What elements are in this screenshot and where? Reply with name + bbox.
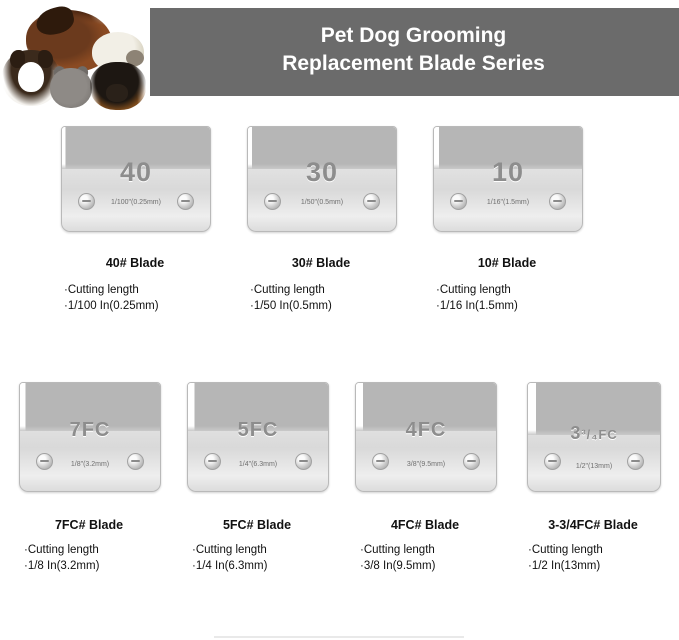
collie-ear-right-icon: [38, 50, 53, 68]
blade-card[interactable]: 5FC1/4"(6.3mm)5FC# Blade·Cutting length·…: [174, 382, 340, 492]
blade-screw-left: [372, 453, 389, 470]
blade-screw-left: [204, 453, 221, 470]
blade-card[interactable]: 101/16"(1.5mm)10# Blade·Cutting length·1…: [414, 126, 600, 232]
blade-number-engraving: 5FC: [188, 419, 328, 442]
blade-number-engraving: 40: [62, 157, 210, 188]
blade-image: 101/16"(1.5mm): [433, 126, 581, 232]
blade-caption: 5FC# Blade: [174, 518, 340, 532]
blade-spec-list: ·Cutting length·1/50 In(0.5mm): [250, 282, 332, 314]
blade-body: 401/100"(0.25mm): [61, 126, 211, 232]
page-header: Pet Dog Grooming Replacement Blade Serie…: [0, 0, 679, 110]
blade-card[interactable]: 3³/₄FC1/2"(13mm)3-3/4FC# Blade·Cutting l…: [510, 382, 676, 492]
blade-screw-right: [127, 453, 144, 470]
blade-spec-item: ·3/8 In(9.5mm): [360, 558, 435, 574]
blade-card[interactable]: 301/50"(0.5mm)30# Blade·Cutting length·1…: [228, 126, 414, 232]
blade-spec-item: ·Cutting length: [528, 542, 603, 558]
blade-spec-list: ·Cutting length·1/2 In(13mm): [528, 542, 603, 574]
blade-row-top: 401/100"(0.25mm)40# Blade·Cutting length…: [0, 126, 679, 352]
blade-screw-left: [264, 193, 281, 210]
page-title: Pet Dog Grooming Replacement Blade Serie…: [148, 22, 679, 78]
blade-image: 301/50"(0.5mm): [247, 126, 395, 232]
blade-card[interactable]: 401/100"(0.25mm)40# Blade·Cutting length…: [42, 126, 228, 232]
blade-screw-right: [295, 453, 312, 470]
blade-caption: 40# Blade: [42, 256, 228, 270]
blade-number-engraving: 10: [434, 157, 582, 188]
blade-spec-item: ·1/2 In(13mm): [528, 558, 603, 574]
blade-caption: 7FC# Blade: [6, 518, 172, 532]
blade-screw-left: [450, 193, 467, 210]
blade-spec-item: ·Cutting length: [192, 542, 267, 558]
blade-screw-right: [363, 193, 380, 210]
blade-screw-right: [549, 193, 566, 210]
blade-spec-list: ·Cutting length·1/8 In(3.2mm): [24, 542, 99, 574]
blade-spec-item: ·Cutting length: [24, 542, 99, 558]
footer-divider: [214, 636, 464, 638]
blade-screw-left: [36, 453, 53, 470]
blade-body: 101/16"(1.5mm): [433, 126, 583, 232]
blade-body: 7FC1/8"(3.2mm): [19, 382, 161, 492]
blade-spec-item: ·1/4 In(6.3mm): [192, 558, 267, 574]
blade-caption: 10# Blade: [414, 256, 600, 270]
blade-spec-item: ·1/16 In(1.5mm): [436, 298, 518, 314]
blade-number-superscript: ³/₄FC: [581, 427, 617, 442]
blade-spec-item: ·1/50 In(0.5mm): [250, 298, 332, 314]
blade-number-engraving: 4FC: [356, 419, 496, 442]
blade-screw-right: [627, 453, 644, 470]
blade-card[interactable]: 4FC3/8"(9.5mm)4FC# Blade·Cutting length·…: [342, 382, 508, 492]
blade-spec-item: ·Cutting length: [436, 282, 518, 298]
rottweiler-snout-icon: [106, 84, 128, 102]
blade-screw-right: [463, 453, 480, 470]
blade-spec-item: ·1/8 In(3.2mm): [24, 558, 99, 574]
blade-spec-list: ·Cutting length·1/16 In(1.5mm): [436, 282, 518, 314]
blade-body: 3³/₄FC1/2"(13mm): [527, 382, 661, 492]
blade-card[interactable]: 7FC1/8"(3.2mm)7FC# Blade·Cutting length·…: [6, 382, 172, 492]
blade-screw-right: [177, 193, 194, 210]
blade-image: 4FC3/8"(9.5mm): [355, 382, 495, 492]
blade-image: 3³/₄FC1/2"(13mm): [527, 382, 659, 492]
blade-screw-left: [544, 453, 561, 470]
page-title-line-1: Pet Dog Grooming: [321, 24, 507, 47]
blade-spec-list: ·Cutting length·1/4 In(6.3mm): [192, 542, 267, 574]
blade-number-engraving: 7FC: [20, 419, 160, 442]
collie-face-icon: [18, 62, 44, 92]
blade-spec-item: ·1/100 In(0.25mm): [64, 298, 159, 314]
blade-body: 301/50"(0.5mm): [247, 126, 397, 232]
blade-spec-list: ·Cutting length·3/8 In(9.5mm): [360, 542, 435, 574]
animal-collage-image: [0, 6, 150, 110]
blade-spec-item: ·Cutting length: [250, 282, 332, 298]
blade-row-bottom: 7FC1/8"(3.2mm)7FC# Blade·Cutting length·…: [0, 382, 679, 614]
blade-spec-list: ·Cutting length·1/100 In(0.25mm): [64, 282, 159, 314]
blade-caption: 30# Blade: [228, 256, 414, 270]
blade-number-engraving: 3³/₄FC: [528, 423, 660, 444]
page-title-line-2: Replacement Blade Series: [148, 50, 679, 78]
blade-image: 401/100"(0.25mm): [61, 126, 209, 232]
blade-body: 4FC3/8"(9.5mm): [355, 382, 497, 492]
blade-body: 5FC1/4"(6.3mm): [187, 382, 329, 492]
cat-icon: [50, 68, 92, 108]
blade-image: 5FC1/4"(6.3mm): [187, 382, 327, 492]
blade-spec-item: ·Cutting length: [360, 542, 435, 558]
blade-caption: 3-3/4FC# Blade: [510, 518, 676, 532]
blade-number-engraving: 30: [248, 157, 396, 188]
blade-caption: 4FC# Blade: [342, 518, 508, 532]
blade-screw-left: [78, 193, 95, 210]
blade-spec-item: ·Cutting length: [64, 282, 159, 298]
blade-image: 7FC1/8"(3.2mm): [19, 382, 159, 492]
